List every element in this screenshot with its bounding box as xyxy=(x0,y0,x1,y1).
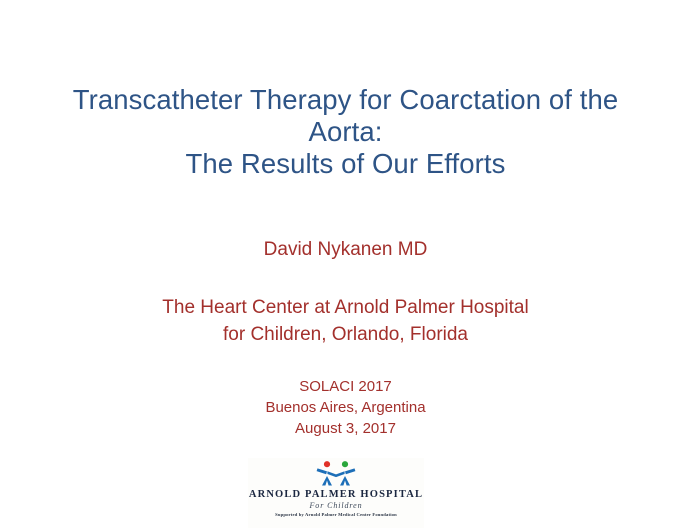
presentation-slide: Transcatheter Therapy for Coarctation of… xyxy=(0,0,691,532)
title-line-3: The Results of Our Efforts xyxy=(0,148,691,180)
title-line-1: Transcatheter Therapy for Coarctation of… xyxy=(0,84,691,116)
slide-title: Transcatheter Therapy for Coarctation of… xyxy=(0,84,691,180)
conference-name: SOLACI 2017 xyxy=(0,376,691,397)
hospital-logo: ARNOLD PALMER HOSPITAL For Children Supp… xyxy=(248,458,424,528)
conference-block: SOLACI 2017 Buenos Aires, Argentina Augu… xyxy=(0,376,691,439)
institution-block: The Heart Center at Arnold Palmer Hospit… xyxy=(0,294,691,348)
institution-line-2: for Children, Orlando, Florida xyxy=(0,321,691,348)
conference-date: August 3, 2017 xyxy=(0,418,691,439)
institution-line-1: The Heart Center at Arnold Palmer Hospit… xyxy=(0,294,691,321)
author-name: David Nykanen MD xyxy=(0,238,691,262)
logo-tagline: Supported by Arnold Palmer Medical Cente… xyxy=(248,511,424,518)
logo-subtitle: For Children xyxy=(248,501,424,511)
title-line-2: Aorta: xyxy=(0,116,691,148)
author-block: David Nykanen MD xyxy=(0,238,691,262)
conference-location: Buenos Aires, Argentina xyxy=(0,397,691,418)
two-children-figures-icon xyxy=(248,460,424,488)
logo-hospital-name: ARNOLD PALMER HOSPITAL xyxy=(248,489,424,501)
